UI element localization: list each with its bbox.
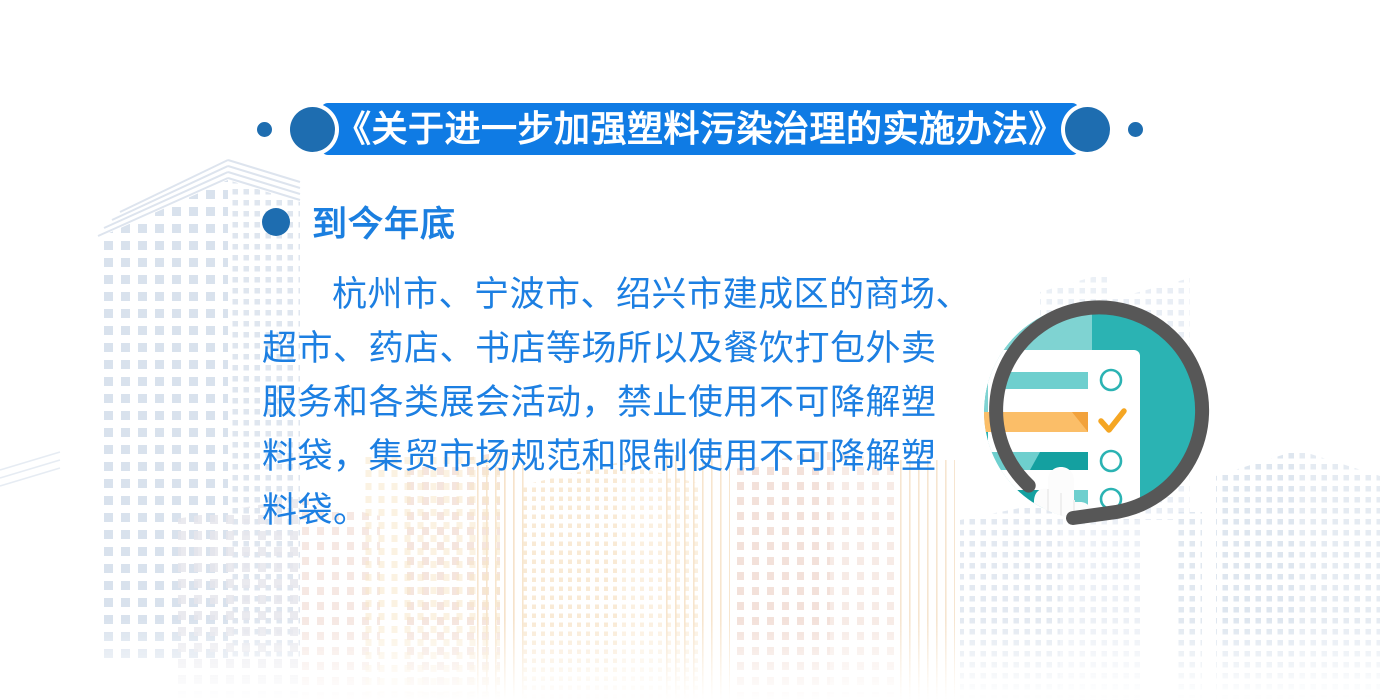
body-line: 料袋。 bbox=[262, 484, 974, 538]
section-bullet-icon bbox=[262, 208, 290, 236]
body-line: 料袋，集贸市场规范和限制使用不可降解塑 bbox=[262, 430, 974, 484]
page-title: 《关于进一步加强塑料污染治理的实施办法》 bbox=[335, 103, 1065, 155]
title-band: 《关于进一步加强塑料污染治理的实施办法》 bbox=[0, 96, 1400, 162]
body-line: 超市、药店、书店等场所以及餐饮打包外卖 bbox=[262, 322, 974, 376]
title-bar: 《关于进一步加强塑料污染治理的实施办法》 bbox=[321, 103, 1079, 155]
title-left-large-dot-icon bbox=[290, 107, 335, 152]
infographic-page: 《关于进一步加强塑料污染治理的实施办法》 到今年底 杭州市、宁波市、绍兴市建成区… bbox=[0, 0, 1400, 700]
title-right-small-dot-icon bbox=[1128, 122, 1143, 137]
sketch-lines-left bbox=[0, 452, 60, 486]
checklist-checkbox-5 bbox=[1101, 525, 1121, 536]
checklist-circle-illustration bbox=[968, 288, 1216, 536]
body-paragraph: 杭州市、宁波市、绍兴市建成区的商场、 超市、药店、书店等场所以及餐饮打包外卖 服… bbox=[262, 268, 974, 538]
title-left-small-dot-icon bbox=[257, 122, 272, 137]
body-line: 服务和各类展会活动，禁止使用不可降解塑 bbox=[262, 376, 974, 430]
title-right-large-dot-icon bbox=[1065, 107, 1110, 152]
building-right-blue bbox=[1216, 450, 1380, 700]
building-right-edge bbox=[1176, 512, 1202, 700]
body-line: 杭州市、宁波市、绍兴市建成区的商场、 bbox=[262, 268, 974, 322]
section-heading: 到今年底 bbox=[312, 196, 456, 247]
checklist-bar-5 bbox=[1064, 526, 1088, 536]
section-heading-row: 到今年底 bbox=[262, 196, 456, 247]
